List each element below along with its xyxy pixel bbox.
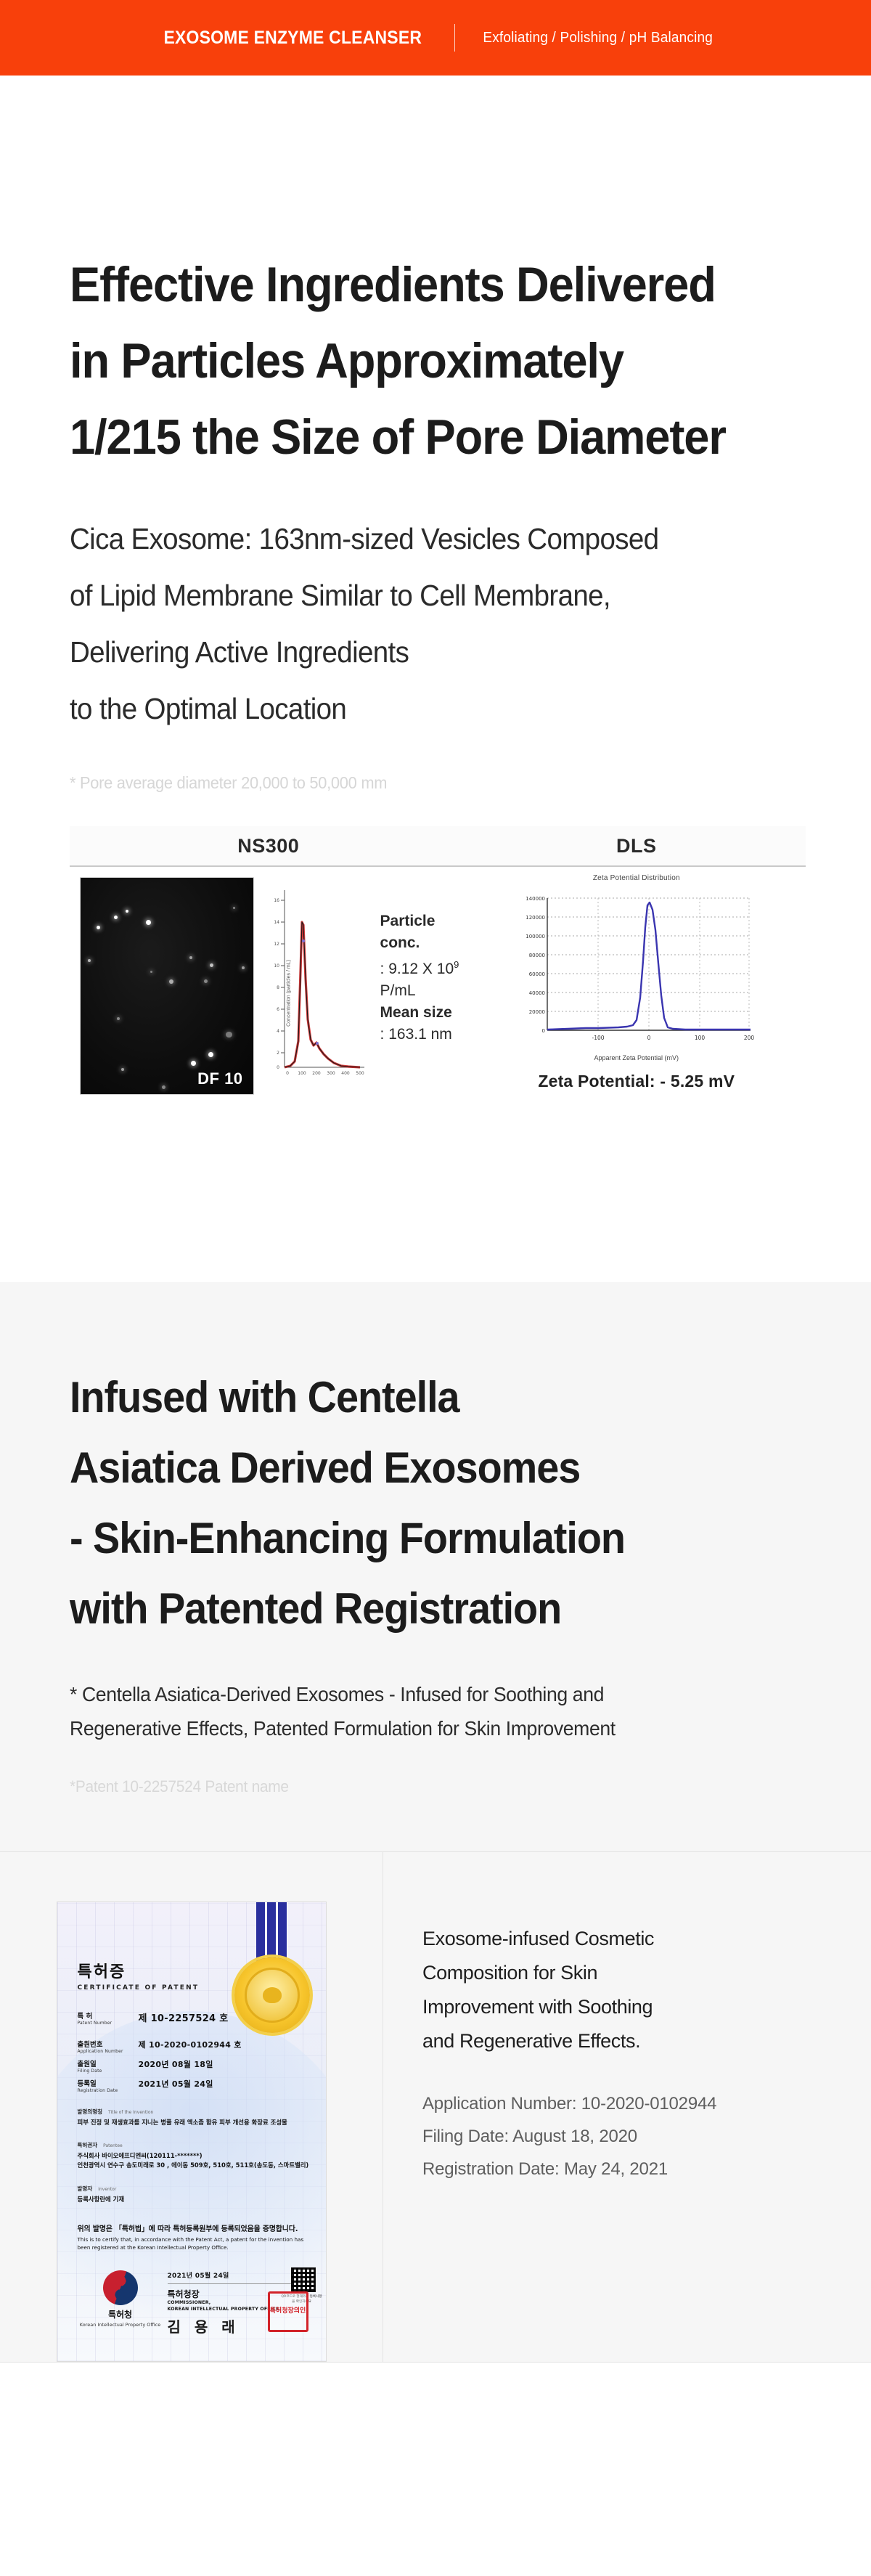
lead-line: to the Optimal Location: [70, 680, 775, 737]
section-two-description: * Centella Asiatica-Derived Exosomes - I…: [70, 1644, 820, 1745]
patent-info-title: Exosome-infused Cosmetic Composition for…: [422, 1922, 871, 2058]
banner-subtitle: Exfoliating / Polishing / pH Balancing: [483, 30, 713, 46]
svg-text:0: 0: [286, 1071, 289, 1076]
office-name-ko: 특허청: [78, 2308, 163, 2320]
inventor-value: 등록사항란에 기재: [78, 2195, 326, 2204]
certificate-row: 특 허 Patent Number 제 10-2257524 호: [78, 2010, 326, 2026]
svg-text:20000: 20000: [528, 1009, 544, 1015]
svg-text:140000: 140000: [526, 896, 545, 902]
heading-line: Infused with Centella: [70, 1362, 768, 1432]
svg-text:4: 4: [277, 1029, 279, 1034]
filing-date: Filing Date: August 18, 2020: [422, 2120, 871, 2153]
promo-banner: EXOSOME ENZYME CLEANSER Exfoliating / Po…: [0, 0, 871, 76]
certificate-row: 출원일 Filing Date 2020년 08월 18일: [78, 2058, 326, 2074]
svg-text:400: 400: [341, 1071, 350, 1076]
kipo-logo-block: 특허청 Korean Intellectual Property Office: [78, 2270, 163, 2328]
zeta-potential-chart: 140000 120000 100000 80000 60000 40000 2…: [517, 885, 756, 1053]
microscopy-image: DF 10: [80, 877, 254, 1095]
certify-text-en: This is to certify that, in accordance w…: [78, 2236, 313, 2252]
svg-text:-100: -100: [592, 1035, 604, 1041]
inventor-label-ko: 발명자: [78, 2185, 93, 2193]
section-one-heading: Effective Ingredients Delivered in Parti…: [70, 76, 820, 476]
patentee-line-2: 인천광역시 연수구 송도미래로 30 , 에이동 509호, 510호, 511…: [78, 2161, 326, 2169]
row-label-en: Filing Date: [78, 2068, 139, 2074]
banner-title: EXOSOME ENZYME CLEANSER: [163, 28, 422, 49]
svg-text:6: 6: [277, 1007, 279, 1012]
certificate-row: 등록일 Registration Date 2021년 05월 24일: [78, 2078, 326, 2093]
certificate-row: 출원번호 Application Number 제 10-2020-010294…: [78, 2039, 326, 2054]
svg-text:0: 0: [541, 1028, 544, 1034]
svg-text:10: 10: [274, 963, 279, 969]
invention-title-value: 피부 진정 및 재생효과를 지니는 병풀 유래 엑소좀 함유 피부 개선용 화장…: [78, 2118, 326, 2127]
description-line: Regenerative Effects, Patented Formulati…: [70, 1711, 782, 1745]
lead-line: Cica Exosome: 163nm-sized Vesicles Compo…: [70, 510, 775, 567]
svg-text:80000: 80000: [528, 953, 544, 958]
row-label-ko: 특 허: [78, 2010, 139, 2021]
office-name-en: Korean Intellectual Property Office: [78, 2322, 163, 2328]
svg-text:8: 8: [277, 985, 279, 990]
certificate-title-en: CERTIFICATE OF PATENT: [78, 1984, 326, 1992]
signature-rule: [168, 2283, 291, 2284]
mean-size-value: : 163.1 nm: [380, 1026, 452, 1043]
nta-size-distribution-chart: 1614 1210 86 42 0 0100 200300 400500: [258, 884, 367, 1102]
inventor-block: 발명자 Inventor 등록사항란에 기재: [78, 2185, 326, 2204]
svg-text:40000: 40000: [528, 990, 544, 996]
particle-conc-label: Particle conc.: [380, 913, 435, 951]
lead-line: of Lipid Membrane Similar to Cell Membra…: [70, 567, 775, 624]
invention-title-block: 발명의명칭 Title of the Invention 피부 진정 및 재생효…: [78, 2108, 326, 2127]
microscopy-label: DF 10: [197, 1069, 242, 1088]
vertical-divider-icon: [454, 24, 455, 52]
pore-diameter-footnote: * Pore average diameter 20,000 to 50,000…: [70, 773, 782, 793]
row-label-en: Patent Number: [78, 2021, 139, 2026]
particle-conc-unit: P/mL: [380, 982, 416, 999]
nta-y-axis-label: Concentration (particles / mL): [286, 960, 291, 1027]
info-title-line: Improvement with Soothing: [422, 1990, 871, 2024]
dls-pane: Zeta Potential Distribution: [467, 867, 806, 1114]
patentee-line-1: 주식회사 바이오에프디엔씨(120111-*******): [78, 2151, 326, 2160]
taegeuk-logo-icon: [103, 2270, 138, 2305]
certify-statement: 위의 발명은 「특허법」에 따라 특허등록원부에 등록되었음을 증명합니다. T…: [78, 2222, 326, 2252]
figure-body: DF 10: [70, 867, 806, 1114]
svg-text:100: 100: [695, 1035, 706, 1041]
patent-info-column: Exosome-infused Cosmetic Composition for…: [383, 1852, 871, 2362]
inventor-label-en: Inventor: [98, 2187, 116, 2192]
svg-text:16: 16: [274, 898, 279, 903]
invention-label-ko: 발명의명칭: [78, 2108, 103, 2116]
bottom-divider: [0, 2362, 871, 2363]
row-value: 2021년 05월 24일: [139, 2078, 213, 2093]
svg-text:200: 200: [744, 1035, 755, 1041]
heading-line: in Particles Approximately: [70, 323, 768, 399]
heading-line: Asiatica Derived Exosomes: [70, 1432, 768, 1503]
row-label-ko: 출원번호: [78, 2039, 139, 2049]
patentee-label-ko: 특허권자: [78, 2141, 98, 2149]
row-label-ko: 등록일: [78, 2078, 139, 2088]
info-title-line: Exosome-infused Cosmetic: [422, 1922, 871, 1956]
certificate-footer: 특허청 Korean Intellectual Property Office …: [78, 2270, 326, 2336]
particle-conc-value: : 9.12 X 10: [380, 961, 454, 977]
svg-text:500: 500: [356, 1071, 364, 1076]
section-centella: Infused with Centella Asiatica Derived E…: [0, 1282, 871, 2363]
dls-chart-title: Zeta Potential Distribution: [467, 874, 806, 882]
heading-line: 1/215 the Size of Pore Diameter: [70, 399, 768, 476]
analysis-figure: NS300 DLS: [70, 826, 806, 1114]
patentee-label-en: Patentee: [103, 2143, 123, 2148]
registration-date: Registration Date: May 24, 2021: [422, 2153, 871, 2185]
row-value: 제 10-2257524 호: [139, 2010, 229, 2026]
patent-card: 특허증 CERTIFICATE OF PATENT 특 허 Patent Num…: [0, 1852, 871, 2362]
svg-text:120000: 120000: [526, 915, 545, 921]
row-value: 제 10-2020-0102944 호: [139, 2039, 242, 2054]
heading-line: with Patented Registration: [70, 1573, 768, 1644]
svg-text:100000: 100000: [526, 934, 545, 939]
description-line: * Centella Asiatica-Derived Exosomes - I…: [70, 1677, 782, 1711]
svg-text:14: 14: [274, 920, 279, 925]
row-value: 2020년 08월 18일: [139, 2058, 213, 2074]
svg-text:300: 300: [327, 1071, 335, 1076]
nta-readout: Particle conc. : 9.12 X 109 P/mL Mean si…: [380, 910, 467, 1046]
dls-x-axis-label: Apparent Zeta Potential (mV): [467, 1054, 806, 1061]
section-ingredients: Effective Ingredients Delivered in Parti…: [0, 76, 871, 1282]
qr-code-icon: [291, 2267, 316, 2292]
patent-certificate-image[interactable]: 특허증 CERTIFICATE OF PATENT 특 허 Patent Num…: [57, 1902, 327, 2362]
svg-text:0: 0: [277, 1065, 279, 1070]
info-title-line: and Regenerative Effects.: [422, 2024, 871, 2058]
svg-text:200: 200: [312, 1071, 321, 1076]
figure-column-label-dls: DLS: [467, 826, 806, 865]
svg-text:100: 100: [298, 1071, 306, 1076]
patent-info-meta: Application Number: 10-2020-0102944 Fili…: [422, 2087, 871, 2185]
row-label-en: Application Number: [78, 2049, 139, 2054]
zeta-potential-readout: Zeta Potential: - 5.25 mV: [467, 1072, 806, 1091]
svg-text:0: 0: [647, 1035, 650, 1041]
invention-label-en: Title of the Invention: [108, 2110, 153, 2115]
certificate-title-ko: 특허증: [78, 1959, 326, 1982]
figure-header: NS300 DLS: [70, 826, 806, 867]
signature-block: QR코드로 현재까지 등록사항을 확인하세요 2021년 05월 24일 특허청…: [163, 2270, 326, 2336]
info-title-line: Composition for Skin: [422, 1956, 871, 1990]
section-one-lead: Cica Exosome: 163nm-sized Vesicles Compo…: [70, 476, 820, 737]
row-label-ko: 출원일: [78, 2058, 139, 2068]
heading-line: - Skin-Enhancing Formulation: [70, 1503, 768, 1573]
certificate-column: 특허증 CERTIFICATE OF PATENT 특 허 Patent Num…: [0, 1852, 383, 2362]
svg-text:12: 12: [274, 942, 279, 947]
heading-line: Effective Ingredients Delivered: [70, 247, 768, 323]
particle-conc-exponent: 9: [454, 959, 459, 970]
lead-line: Delivering Active Ingredients: [70, 624, 775, 680]
patentee-block: 특허권자 Patentee 주식회사 바이오에프디엔씨(120111-*****…: [78, 2141, 326, 2169]
ns300-pane: DF 10: [70, 867, 467, 1114]
certify-text-ko: 위의 발명은 「특허법」에 따라 특허등록원부에 등록되었음을 증명합니다.: [78, 2222, 313, 2233]
section-two-heading: Infused with Centella Asiatica Derived E…: [70, 1282, 820, 1644]
figure-column-label-ns300: NS300: [70, 826, 467, 865]
svg-text:60000: 60000: [528, 971, 544, 977]
svg-text:2: 2: [277, 1051, 279, 1056]
mean-size-label: Mean size: [380, 1004, 452, 1021]
row-label-en: Registration Date: [78, 2088, 139, 2093]
patent-number-note: *Patent 10-2257524 Patent name: [70, 1777, 782, 1796]
red-seal-stamp-icon: 특허청장의인: [268, 2291, 308, 2332]
application-number: Application Number: 10-2020-0102944: [422, 2087, 871, 2120]
